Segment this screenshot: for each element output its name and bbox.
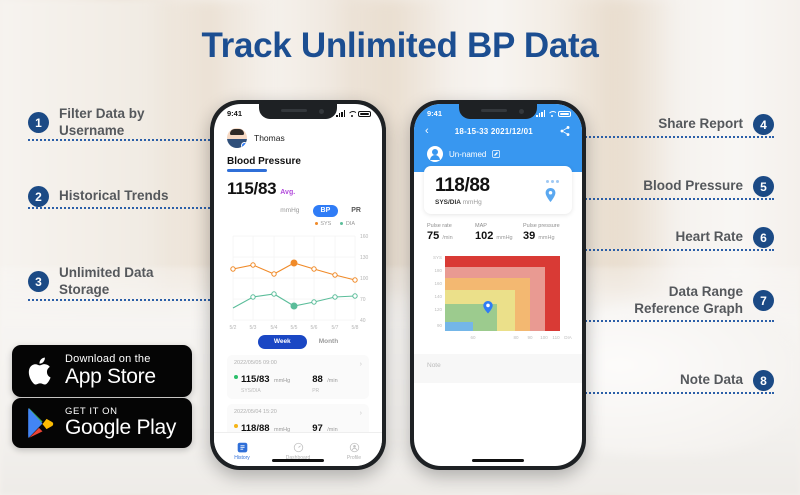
svg-text:5/6: 5/6 [311, 325, 318, 331]
svg-text:180: 180 [434, 268, 442, 273]
metrics-row: Pulse rate 75 /min MAP 102 mmHg Pulse pr… [414, 214, 582, 251]
apple-icon [26, 354, 56, 388]
battery-icon [358, 111, 371, 118]
username-label: Un-named [449, 150, 486, 159]
username-label: Thomas [254, 133, 285, 143]
svg-text:80: 80 [513, 335, 519, 340]
trend-chart-svg: 160 130 100 70 40 5/2 5/3 5/4 5/5 5/6 5/… [227, 228, 377, 332]
page-title: Track Unlimited BP Data [0, 26, 800, 66]
status-dot-icon [234, 424, 238, 428]
left-phone-body: Thomas Blood Pressure 115/83 Avg. mmHg B… [214, 121, 382, 448]
reference-y-ticks: SYS 180 160 140 120 90 [433, 255, 443, 328]
svg-text:160: 160 [434, 281, 442, 286]
bp-reading-card: 118/88 SYS/DIA mmHg [424, 166, 572, 214]
reference-graph-svg: SYS 180 160 140 120 90 [422, 251, 574, 343]
battery-icon [558, 111, 571, 118]
section-title: Blood Pressure [227, 156, 369, 167]
bp-pr-segmented-control[interactable]: BP PR [313, 205, 369, 217]
svg-text:70: 70 [360, 297, 366, 303]
trend-chart[interactable]: 160 130 100 70 40 5/2 5/3 5/4 5/5 5/6 5/… [227, 228, 369, 332]
svg-text:SYS: SYS [433, 255, 442, 260]
chevron-right-icon: › [360, 361, 362, 368]
callout-number-1: 1 [28, 112, 49, 133]
reference-x-ticks: 60 80 90 100 110 DIA [470, 335, 571, 340]
bp-value-sub: SYS/DIA mmHg [435, 199, 561, 206]
svg-text:5/8: 5/8 [352, 325, 359, 331]
record-values: 115/83 mmHg SYS/DIA 88 /min PR [234, 369, 362, 394]
google-play-icon [26, 407, 56, 439]
tab-label: History [214, 455, 270, 461]
leader-line-5 [578, 198, 774, 200]
leader-line-8 [578, 392, 774, 394]
svg-text:5/7: 5/7 [332, 325, 339, 331]
status-dot-icon [234, 375, 238, 379]
status-icons [536, 110, 571, 117]
segment-pr[interactable]: PR [343, 205, 369, 217]
leader-line-7 [578, 320, 774, 322]
nav-row: ‹ 18-15-33 2021/12/01 [414, 121, 582, 137]
tab-history[interactable]: History [214, 442, 270, 461]
status-time: 9:41 [427, 109, 442, 118]
callout-label-8: Note Data [680, 372, 743, 389]
legend-sys: SYS [315, 221, 332, 227]
edit-icon[interactable] [492, 150, 500, 158]
note-placeholder: Note [427, 362, 441, 369]
phone-mockup-left: 9:41 Thomas Blood Pressure 115/83 Avg. m… [210, 100, 386, 470]
reading-row: 115/83 Avg. mmHg BP PR [227, 179, 369, 217]
callout-label-3: Unlimited Data Storage [59, 265, 154, 299]
callout-1: 1 Filter Data by Username [28, 106, 145, 140]
callout-4: Share Report 4 [658, 114, 774, 135]
leader-line-3 [28, 299, 218, 301]
bp-unit: mmHg [280, 207, 299, 214]
svg-text:140: 140 [434, 294, 442, 299]
google-play-badge[interactable]: GET IT ON Google Play [12, 398, 192, 448]
record-timestamp: 2022/05/04 15:20 [234, 409, 362, 415]
callout-number-7: 7 [753, 290, 774, 311]
user-row[interactable]: Un-named [414, 137, 582, 162]
section-underline [227, 169, 267, 172]
history-icon [237, 442, 248, 453]
svg-text:DIA: DIA [564, 335, 572, 340]
average-reading: 115/83 Avg. mmHg [227, 179, 299, 217]
callout-label-7: Data Range Reference Graph [634, 284, 743, 318]
share-icon[interactable] [559, 125, 571, 137]
y-axis-ticks: 160 130 100 70 40 [360, 234, 369, 324]
bp-value: 118/88 [435, 175, 561, 197]
user-filter-row[interactable]: Thomas [227, 128, 369, 148]
tab-dashboard[interactable]: Dashboard [270, 442, 326, 461]
leader-line-6 [578, 249, 774, 251]
app-store-text: Download on the App Store [65, 354, 156, 388]
phone-left-screen: 9:41 Thomas Blood Pressure 115/83 Avg. m… [214, 104, 382, 466]
svg-text:160: 160 [360, 234, 369, 240]
svg-text:90: 90 [527, 335, 533, 340]
metric-value: 39 mmHg [523, 230, 569, 242]
x-axis-ticks: 5/2 5/3 5/4 5/5 5/6 5/7 5/8 [230, 325, 359, 331]
location-pin-icon [545, 188, 556, 202]
callout-2: 2 Historical Trends [28, 186, 169, 207]
tab-profile[interactable]: Profile [326, 442, 382, 461]
callout-number-8: 8 [753, 370, 774, 391]
callout-6: Heart Rate 6 [675, 227, 774, 248]
callout-8: Note Data 8 [680, 370, 774, 391]
record-bp-sub: SYS/DIA [241, 388, 290, 394]
svg-text:60: 60 [470, 335, 476, 340]
leader-line-4 [578, 136, 774, 138]
svg-text:5/3: 5/3 [250, 325, 257, 331]
callout-number-6: 6 [753, 227, 774, 248]
wifi-icon [348, 110, 356, 117]
app-store-badge[interactable]: Download on the App Store [12, 345, 192, 397]
zone-low [445, 322, 473, 331]
speaker-icon [481, 109, 507, 112]
speaker-icon [281, 109, 307, 112]
metric-pulse-pressure: Pulse pressure 39 mmHg [523, 223, 569, 242]
svg-text:130: 130 [360, 255, 369, 261]
phone-notch [459, 104, 537, 119]
record-item-1[interactable]: 2022/05/05 09:00 › 115/83 mmHg SYS/DIA 8… [227, 355, 369, 399]
profile-icon [349, 442, 360, 453]
wifi-icon [548, 110, 556, 117]
svg-text:100: 100 [540, 335, 548, 340]
loading-dots-icon [546, 180, 559, 183]
record-timestamp: 2022/05/05 09:00 [234, 360, 362, 366]
segment-bp[interactable]: BP [313, 205, 339, 217]
svg-text:5/4: 5/4 [271, 325, 278, 331]
phone-mockup-right: 9:41 ‹ 18-15-33 2021/12/01 [410, 100, 586, 470]
home-indicator [472, 459, 524, 462]
legend-dia: DIA [340, 221, 355, 227]
callout-5: Blood Pressure 5 [643, 176, 774, 197]
app-store-big: App Store [65, 366, 156, 388]
phone-notch [259, 104, 337, 119]
metric-label: Pulse rate [427, 223, 473, 229]
svg-text:110: 110 [552, 335, 560, 340]
status-icons [336, 110, 371, 117]
avatar [227, 128, 247, 148]
chevron-right-icon: › [360, 410, 362, 417]
back-icon[interactable]: ‹ [425, 126, 429, 137]
toggle-month[interactable]: Month [319, 338, 339, 345]
camera-icon [519, 109, 524, 114]
record-bp: 115/83 mmHg SYS/DIA [234, 369, 290, 394]
camera-icon [319, 109, 324, 114]
svg-text:40: 40 [360, 318, 366, 324]
reference-graph[interactable]: SYS 180 160 140 120 90 [422, 251, 574, 348]
avg-label: Avg. [280, 189, 295, 196]
bp-average-value: 115/83 [227, 179, 276, 199]
metric-map: MAP 102 mmHg [475, 223, 521, 242]
toggle-week[interactable]: Week [258, 335, 307, 349]
svg-text:5/2: 5/2 [230, 325, 237, 331]
metric-value: 75 /min [427, 230, 473, 242]
svg-text:90: 90 [437, 323, 443, 328]
status-time: 9:41 [227, 109, 242, 118]
google-play-text: GET IT ON Google Play [65, 407, 176, 439]
metric-value: 102 mmHg [475, 230, 521, 242]
phone-right-screen: 9:41 ‹ 18-15-33 2021/12/01 [414, 104, 582, 466]
callout-3: 3 Unlimited Data Storage [28, 265, 154, 299]
callout-label-2: Historical Trends [59, 188, 169, 205]
chart-legend: SYS DIA [227, 221, 369, 227]
callout-number-2: 2 [28, 186, 49, 207]
callout-label-6: Heart Rate [675, 229, 743, 246]
callout-number-5: 5 [753, 176, 774, 197]
series-dia-points [251, 291, 357, 308]
dashboard-icon [293, 442, 304, 453]
record-pr-sub: PR [312, 388, 337, 394]
signal-icon [336, 110, 345, 117]
callout-label-5: Blood Pressure [643, 178, 743, 195]
note-field[interactable]: Note [414, 354, 582, 383]
svg-text:120: 120 [434, 307, 442, 312]
callout-label-4: Share Report [658, 116, 743, 133]
callout-label-1: Filter Data by Username [59, 106, 145, 140]
callout-number-3: 3 [28, 271, 49, 292]
svg-text:100: 100 [360, 276, 369, 282]
range-toggle[interactable]: Week Month [227, 335, 369, 349]
avatar-badge-icon [241, 142, 247, 148]
leader-line-2 [28, 207, 218, 209]
record-datetime: 18-15-33 2021/12/01 [455, 127, 533, 136]
callout-number-4: 4 [753, 114, 774, 135]
home-indicator [272, 459, 324, 462]
metric-pulse-rate: Pulse rate 75 /min [427, 223, 473, 242]
google-play-big: Google Play [65, 417, 176, 439]
metric-label: MAP [475, 223, 521, 229]
reference-zones [445, 256, 560, 331]
svg-text:5/5: 5/5 [291, 325, 298, 331]
callout-7: Data Range Reference Graph 7 [634, 284, 774, 318]
signal-icon [536, 110, 545, 117]
avatar [427, 146, 443, 162]
record-pr: 88 /min PR [312, 369, 337, 394]
tab-label: Profile [326, 455, 382, 461]
metric-label: Pulse pressure [523, 223, 569, 229]
